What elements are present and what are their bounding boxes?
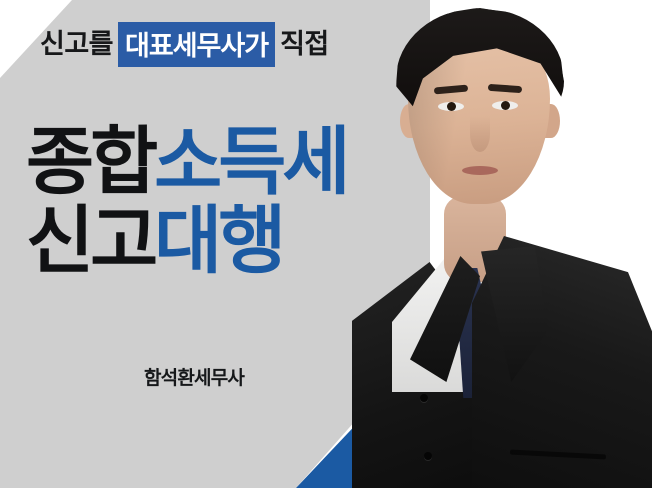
pupil-right (501, 101, 510, 110)
suit-button-upper (420, 394, 428, 402)
suit-button-lower (424, 452, 432, 460)
pupil-left (447, 102, 456, 111)
nose (470, 116, 490, 152)
promo-banner: 신고를 대표세무사가 직접 종합소득세 신고대행 함석환세무사 (0, 0, 652, 488)
mouth (462, 166, 498, 175)
portrait-photo (352, 0, 652, 488)
